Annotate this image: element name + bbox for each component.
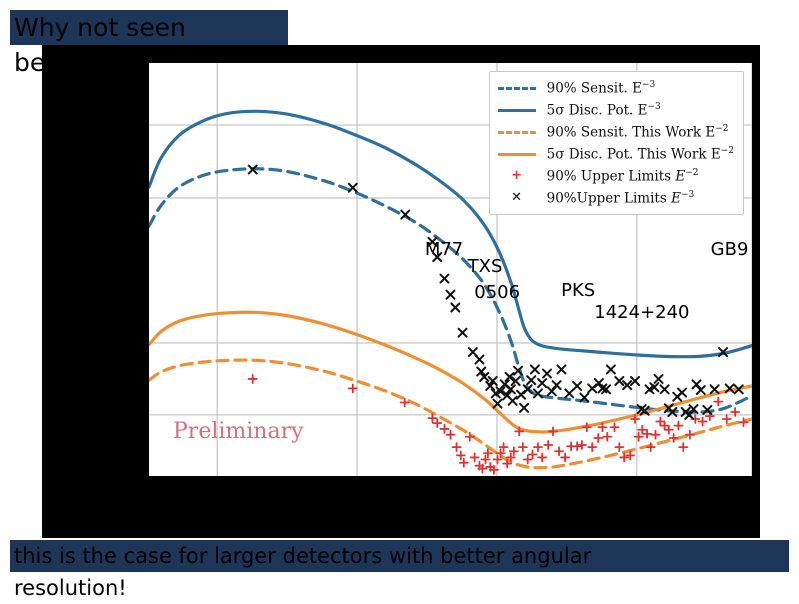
upper-limit-marker [520,404,528,412]
upper-limit-marker [459,329,467,337]
slide-caption: this is the case for larger detectors wi… [14,540,794,604]
upper-limit-marker [466,433,474,441]
legend-label: 90%Upper Limits E−3 [547,190,695,207]
upper-limit-marker [509,397,517,405]
upper-limit-marker [594,434,602,442]
upper-limit-marker [534,443,542,451]
series-line [149,312,752,432]
upper-limit-marker [573,382,581,390]
upper-limit-marker [661,422,669,430]
upper-limit-marker [349,184,357,192]
plus-icon: + [496,169,538,183]
upper-limit-marker [440,275,448,283]
upper-limit-marker [519,443,527,451]
upper-limit-marker [623,381,631,389]
legend-line [498,131,536,134]
upper-limit-marker [471,453,479,461]
chart-legend: 90% Sensit. E−35σ Disc. Pot. E−390% Sens… [489,71,744,215]
upper-limit-marker [561,453,569,461]
upper-limit-marker [655,375,663,383]
legend-label: 90% Sensit. E−3 [547,80,656,97]
upper-limit-marker [714,398,722,406]
legend-item: 90% Sensit. E−3 [496,77,734,99]
upper-limit-marker [440,425,448,433]
upper-limit-marker [647,443,655,451]
chart-annotation-txs: TXS [468,257,503,277]
legend-line-swatch [496,103,538,117]
upper-limit-marker [544,441,552,449]
upper-limit-marker [453,443,461,451]
chart-annotation-0506: 0506 [474,283,520,303]
upper-limit-marker [686,431,694,439]
upper-limit-marker [524,455,532,463]
legend-label: 90% Upper Limits E−2 [547,168,699,185]
legend-line [498,109,536,112]
chart-annotation-m77: M77 [425,240,463,260]
upper-limit-marker [603,433,611,441]
legend-line-swatch [496,125,538,139]
upper-limit-marker [652,431,660,439]
upper-limit-marker [527,376,535,384]
upper-limit-marker [643,430,651,438]
legend-marker-icon: + [496,169,538,183]
upper-limit-marker [661,385,669,393]
chart-annotation-1424-240: 1424+240 [594,303,689,323]
upper-limit-marker [531,365,539,373]
figure-frame: 90% Sensit. E−35σ Disc. Pot. E−390% Sens… [42,45,760,538]
upper-limit-marker [674,422,682,430]
upper-limit-marker [494,400,502,408]
legend-line [498,87,536,90]
upper-limit-marker [433,419,441,427]
upper-limit-marker [557,365,565,373]
upper-limit-marker [615,377,623,385]
legend-item: 5σ Disc. Pot. E−3 [496,99,734,121]
chart-plot-area: 90% Sensit. E−35σ Disc. Pot. E−390% Sens… [149,63,752,476]
chart-annotation-gb9: GB9 [711,240,749,260]
upper-limit-marker [615,443,623,451]
upper-limit-marker [538,379,546,387]
upper-limit-marker [578,441,586,449]
upper-limit-marker [565,389,573,397]
legend-line-swatch [496,81,538,95]
upper-limit-marker [711,385,719,393]
upper-limit-marker [679,443,687,451]
legend-item: 90% Sensit. This Work E−2 [496,121,734,143]
legend-line-swatch [496,147,538,161]
upper-limit-marker [538,453,546,461]
legend-item: ✕90%Upper Limits E−3 [496,187,734,209]
upper-limit-marker [723,415,731,423]
upper-limit-marker [249,375,257,383]
upper-limit-marker [665,426,673,434]
upper-limit-marker [529,451,537,459]
upper-limit-marker [656,417,664,425]
upper-limit-marker [451,303,459,311]
upper-limit-marker [553,381,561,389]
upper-limit-marker [555,447,563,455]
preliminary-watermark: Preliminary [173,419,304,444]
legend-item: +90% Upper Limits E−2 [496,165,734,187]
upper-limit-marker [401,398,409,406]
upper-limit-marker [678,389,686,397]
upper-limit-marker [631,377,639,385]
upper-limit-marker [549,427,557,435]
upper-limit-marker [607,365,615,373]
cross-icon: ✕ [496,191,538,205]
upper-limit-marker [588,443,596,451]
legend-label: 5σ Disc. Pot. E−3 [547,102,661,119]
upper-limit-marker [447,291,455,299]
upper-limit-marker [475,356,483,364]
legend-label: 90% Sensit. This Work E−2 [547,124,729,141]
legend-line [498,153,536,156]
chart-annotation-pks: PKS [561,281,595,301]
legend-item: 5σ Disc. Pot. This Work E−2 [496,143,734,165]
upper-limit-marker [670,434,678,442]
upper-limit-marker [573,442,581,450]
upper-limit-marker [611,423,619,431]
upper-limit-marker [349,384,357,392]
upper-limit-marker [447,431,455,439]
legend-label: 5σ Disc. Pot. This Work E−2 [547,146,734,163]
legend-marker-icon: ✕ [496,191,538,205]
upper-limit-marker [543,370,551,378]
